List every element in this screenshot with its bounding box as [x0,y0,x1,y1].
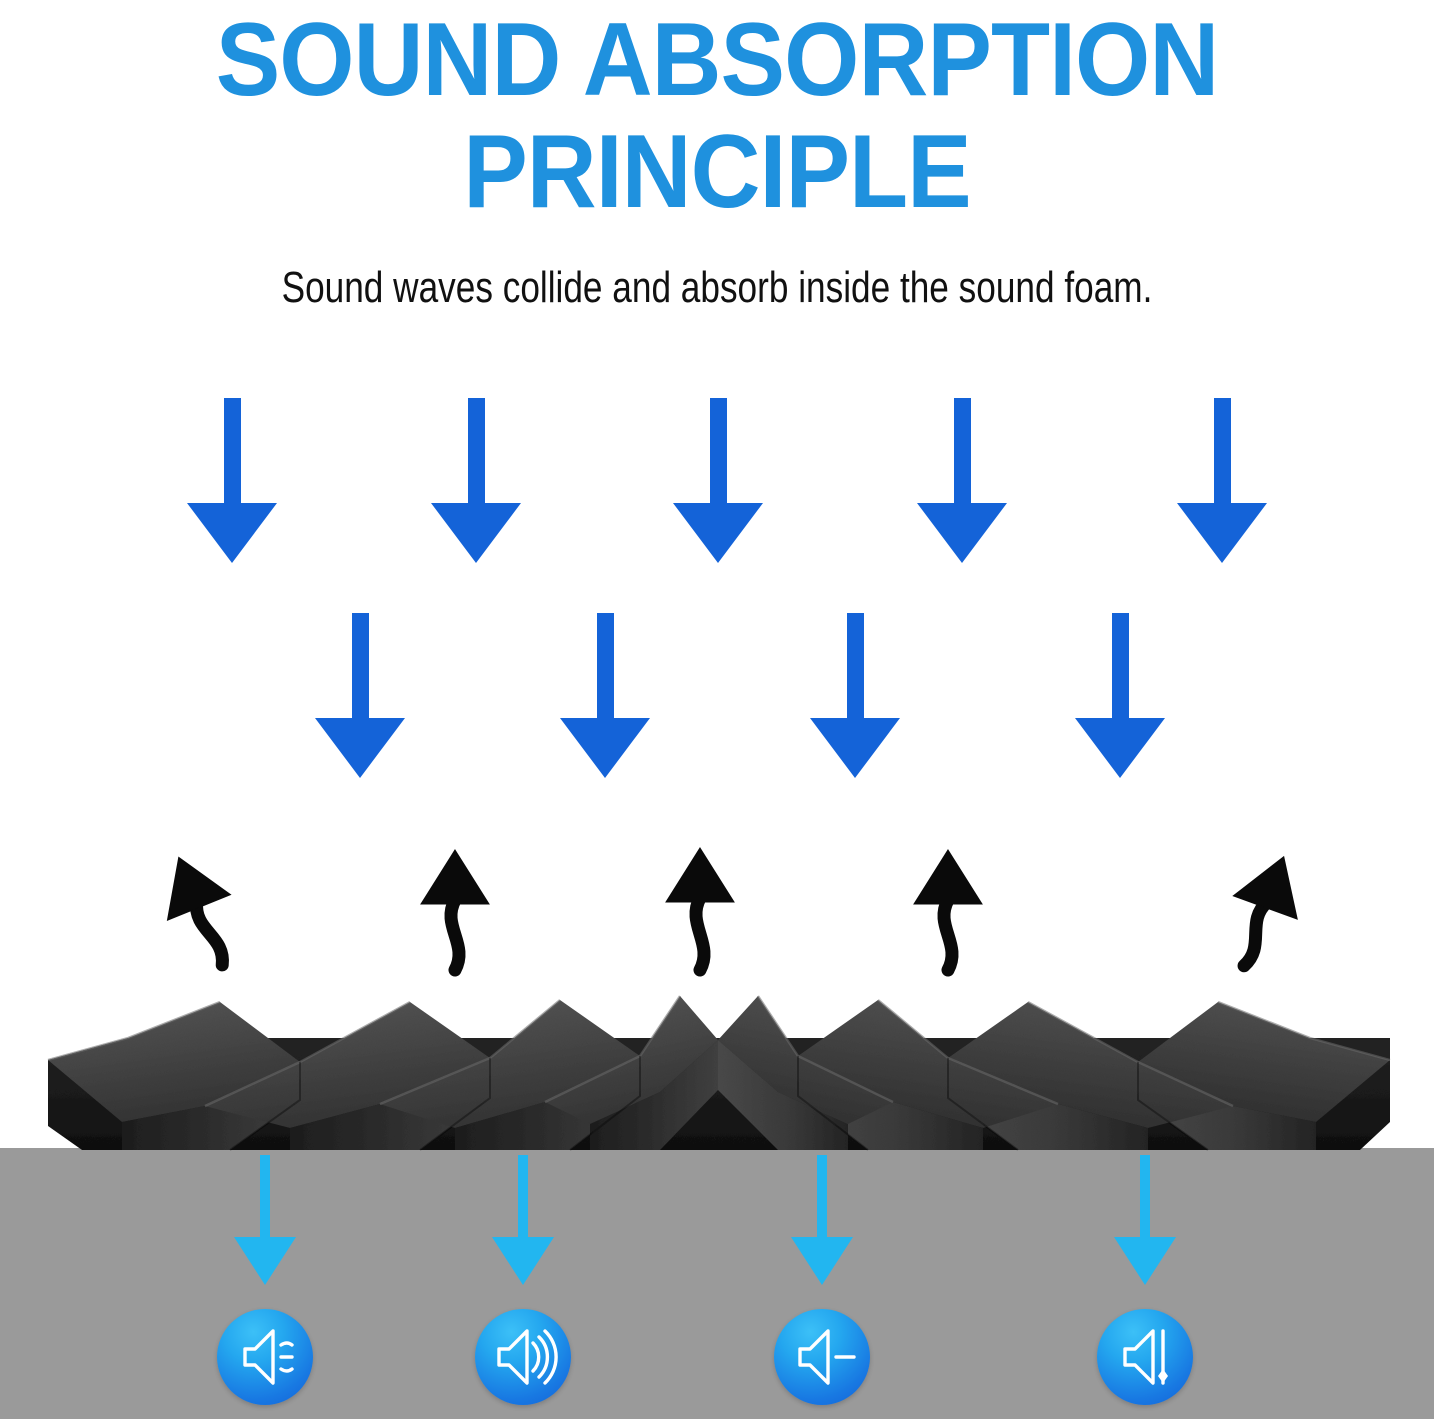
down-arrow-icon [431,398,521,563]
down-arrow-icon [187,398,277,563]
foam-wedges-right [718,996,1390,1150]
infographic-poster: SOUND ABSORPTION PRINCIPLE Sound waves c… [0,0,1434,1419]
speaker-fader-icon[interactable] [1097,1309,1193,1405]
down-arrow-icon [810,613,900,778]
down-arrow-icon [315,613,405,778]
squiggle-arrow-up-icon [1212,845,1316,977]
diagram-canvas [0,0,1434,1419]
speaker-dashes-icon[interactable] [217,1309,313,1405]
down-arrow-icon [917,398,1007,563]
down-arrow-icon [791,1155,853,1285]
down-arrow-icon [1075,613,1165,778]
squiggle-arrow-up-icon [914,850,982,970]
foam-panel [48,996,1390,1150]
squiggle-arrow-up-icon [147,845,254,978]
down-arrow-icon [234,1155,296,1285]
foam-wedges-left [48,996,718,1150]
reflected-arrows [147,845,1315,978]
speaker-minus-icon[interactable] [774,1309,870,1405]
squiggle-arrow-up-icon [421,850,489,970]
transmitted-arrows [234,1155,1176,1285]
squiggle-arrow-up-icon [666,848,734,970]
speaker-waves-icon[interactable] [475,1309,571,1405]
incoming-arrows-row-2 [315,613,1165,778]
down-arrow-icon [1177,398,1267,563]
down-arrow-icon [673,398,763,563]
down-arrow-icon [560,613,650,778]
down-arrow-icon [492,1155,554,1285]
incoming-arrows-row-1 [187,398,1267,563]
down-arrow-icon [1114,1155,1176,1285]
